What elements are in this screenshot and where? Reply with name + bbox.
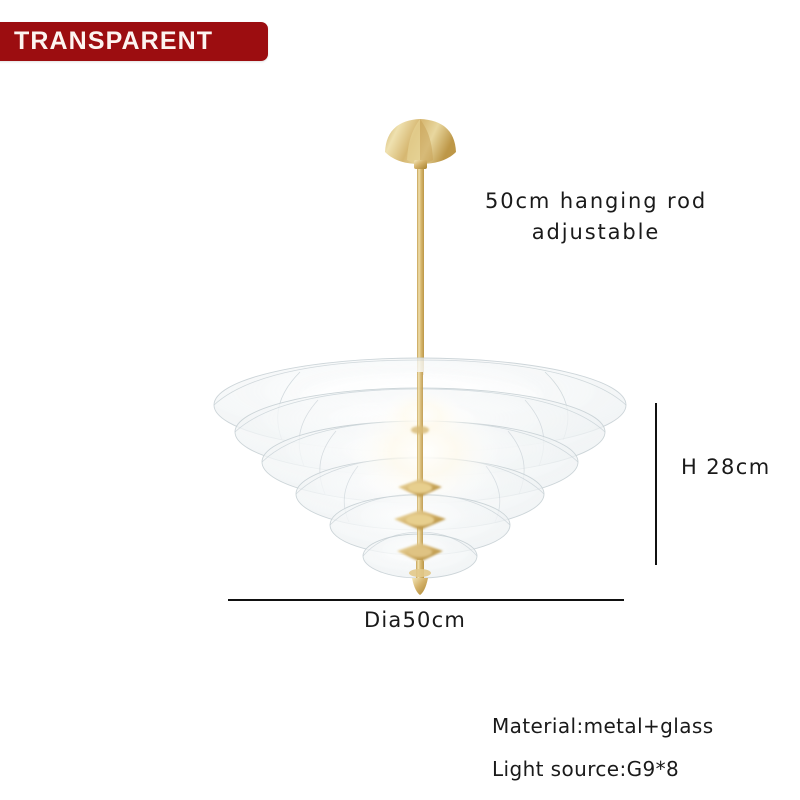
height-dimension-line bbox=[655, 403, 657, 565]
material-spec: Material:metal+glass bbox=[492, 705, 714, 748]
transparent-banner: TRANSPARENT bbox=[0, 22, 268, 61]
diameter-label: Dia50cm bbox=[255, 608, 575, 632]
chandelier-illustration bbox=[0, 0, 800, 800]
specification-block: Material:metal+glass Light source:G9*8 bbox=[492, 705, 714, 791]
hanging-rod-annotation: 50cm hanging rod adjustable bbox=[474, 186, 718, 248]
hanging-rod-line-2: adjustable bbox=[532, 220, 660, 244]
product-spec-image: TRANSPARENT bbox=[0, 0, 800, 800]
hanging-rod-line-1: 50cm hanging rod bbox=[485, 189, 707, 213]
diameter-dimension-line bbox=[228, 599, 624, 601]
height-label: H 28cm bbox=[681, 455, 771, 479]
banner-label: TRANSPARENT bbox=[14, 22, 213, 61]
light-source-spec: Light source:G9*8 bbox=[492, 748, 714, 791]
